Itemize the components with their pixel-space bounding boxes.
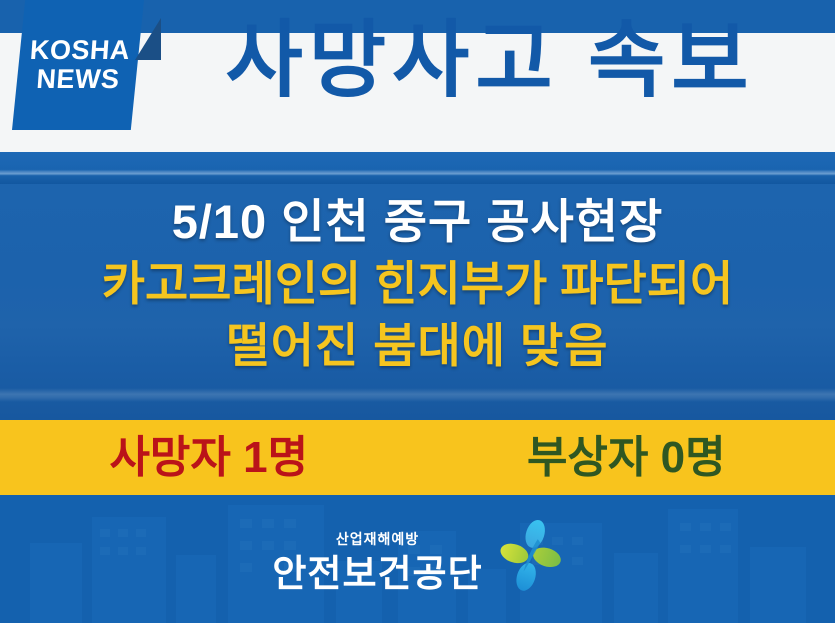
kosha-pinwheel-logo-icon: [497, 517, 563, 595]
organization-name: 안전보건공단: [272, 555, 482, 592]
header-separator-band: [0, 152, 835, 184]
kosha-fatal-accident-news-card: KOSHA NEWS 사망사고 속보 5/10 인천 중구 공사현장 카고크레인…: [0, 0, 835, 623]
accident-line-location: 5/10 인천 중구 공사현장: [0, 198, 835, 245]
organization-logo: 산업재해예방 안전보건공단: [0, 495, 835, 623]
body-sheen-decoration: [0, 388, 835, 402]
footer: 산업재해예방 안전보건공단: [0, 495, 835, 623]
page-title: 사망사고 속보: [160, 18, 820, 102]
injury-count: 부상자 0명: [418, 436, 835, 480]
header: KOSHA NEWS 사망사고 속보: [0, 0, 835, 152]
death-count: 사망자 1명: [0, 436, 418, 480]
casualty-banner: 사망자 1명 부상자 0명: [0, 420, 835, 495]
kosha-news-badge-text: KOSHA NEWS: [14, 36, 144, 94]
badge-label-news: NEWS: [14, 65, 142, 94]
accident-line-cause: 카고크레인의 힌지부가 파단되어: [0, 260, 835, 307]
organization-tagline: 산업재해예방: [272, 532, 482, 546]
organization-logo-text: 산업재해예방 안전보건공단: [272, 526, 482, 592]
accident-description: 5/10 인천 중구 공사현장 카고크레인의 힌지부가 파단되어 떨어진 붐대에…: [0, 184, 835, 420]
accident-line-outcome: 떨어진 붐대에 맞음: [0, 322, 835, 369]
badge-label-kosha: KOSHA: [29, 35, 131, 65]
